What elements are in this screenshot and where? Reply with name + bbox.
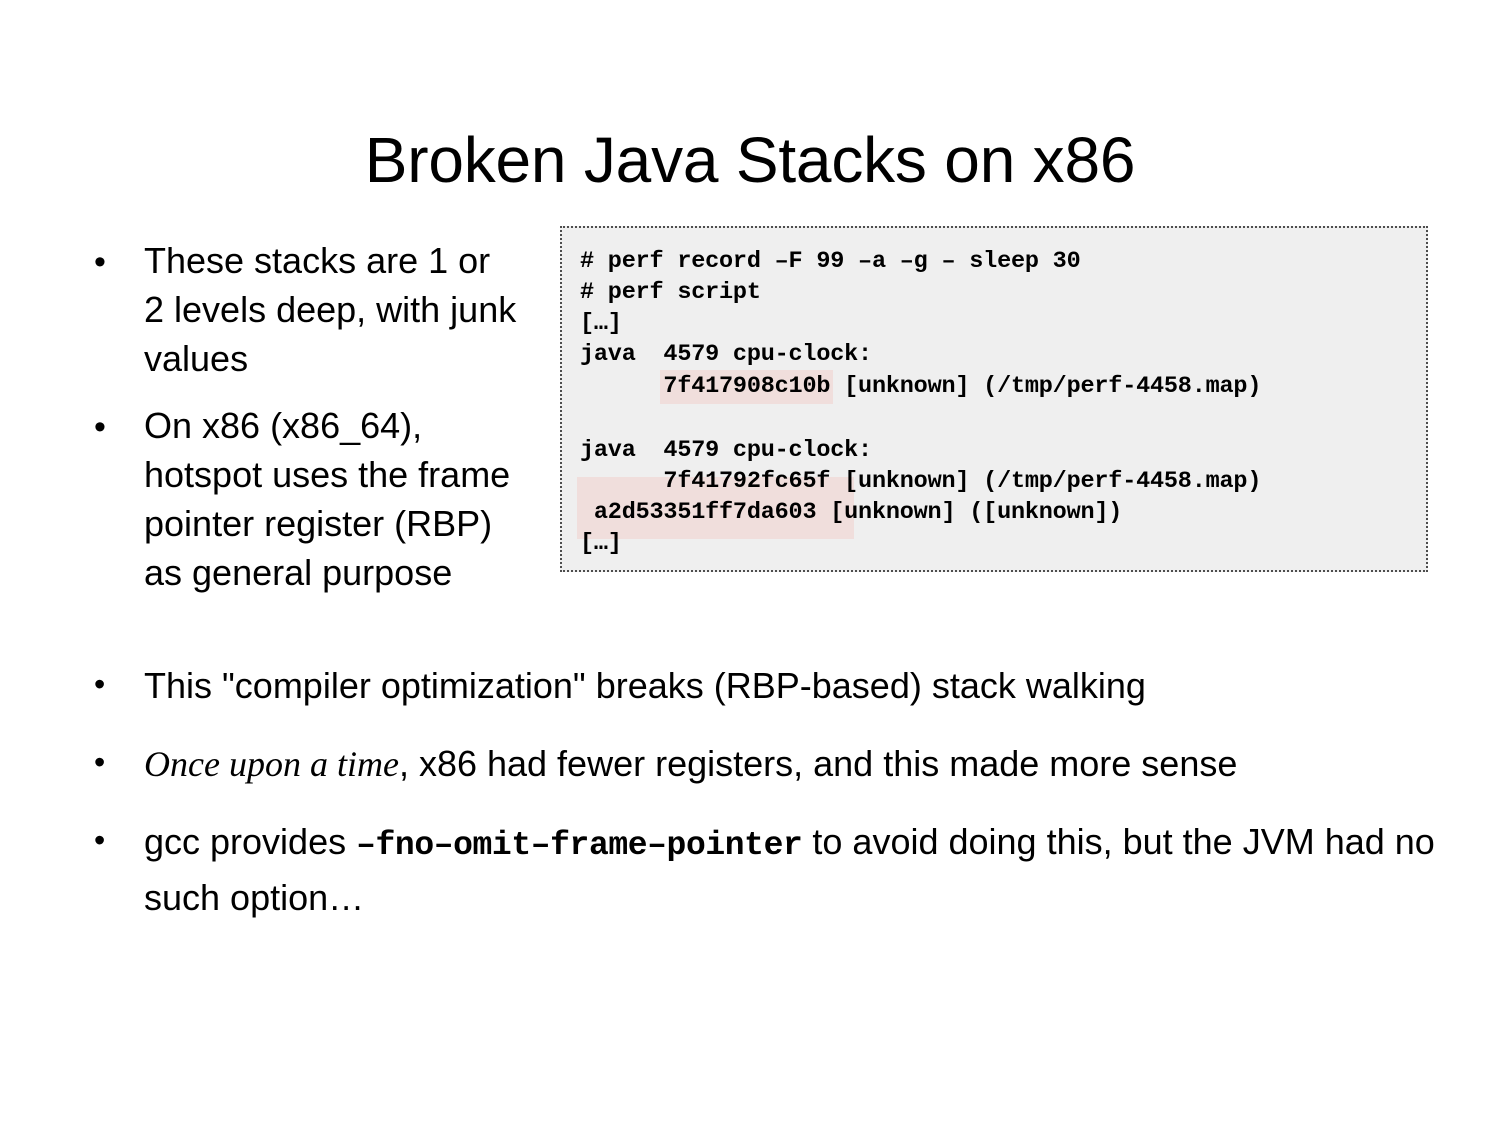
- page-title: Broken Java Stacks on x86: [0, 127, 1500, 194]
- list-item: • On x86 (x86_64), hotspot uses the fram…: [88, 401, 518, 597]
- bullet-dot-icon: •: [94, 401, 106, 453]
- code-line: java 4579 cpu-clock:: [580, 435, 1426, 466]
- text-run: gcc provides: [144, 821, 356, 862]
- left-bullet-list: • These stacks are 1 or 2 levels deep, w…: [88, 236, 518, 615]
- code-line-blank: [580, 404, 1426, 435]
- code-line-stack-frame: 7f41792fc65f [unknown] (/tmp/perf-4458.m…: [580, 466, 1426, 497]
- code-lines: # perf record –F 99 –a –g – sleep 30 # p…: [580, 246, 1426, 559]
- code-line: java 4579 cpu-clock:: [580, 339, 1426, 370]
- text-run-code: –fno–omit–frame–pointer: [356, 827, 802, 864]
- address-highlight: a2d53351ff7da603: [594, 499, 816, 526]
- code-line: # perf record –F 99 –a –g – sleep 30: [580, 246, 1426, 277]
- code-frame-detail: [unknown] (/tmp/perf-4458.map): [830, 373, 1261, 400]
- code-line-stack-frame: 7f417908c10b [unknown] (/tmp/perf-4458.m…: [580, 370, 1426, 404]
- code-indent: [580, 373, 663, 400]
- bullet-dot-icon: •: [94, 236, 106, 288]
- code-line-stack-frame: a2d53351ff7da603 [unknown] ([unknown]): [580, 497, 1426, 528]
- list-item-label: These stacks are 1 or 2 levels deep, wit…: [144, 236, 518, 383]
- address-highlight: 7f41792fc65f: [663, 468, 830, 495]
- bullet-dot-icon: •: [94, 738, 105, 786]
- list-item-label: On x86 (x86_64), hotspot uses the frame …: [144, 401, 518, 597]
- list-item-label: This "compiler optimization" breaks (RBP…: [144, 660, 1448, 712]
- code-line: […]: [580, 308, 1426, 339]
- code-frame-detail: [unknown] ([unknown]): [816, 499, 1122, 526]
- code-line: […]: [580, 528, 1426, 559]
- code-indent: [580, 499, 594, 526]
- terminal-code-block: # perf record –F 99 –a –g – sleep 30 # p…: [560, 226, 1428, 572]
- list-item-label: gcc provides –fno–omit–frame–pointer to …: [144, 816, 1448, 924]
- list-item: • gcc provides –fno–omit–frame–pointer t…: [88, 816, 1448, 924]
- bullet-dot-icon: •: [94, 816, 105, 864]
- code-frame-detail: [unknown] (/tmp/perf-4458.map): [830, 468, 1261, 495]
- code-line: # perf script: [580, 277, 1426, 308]
- list-item: • Once upon a time, x86 had fewer regist…: [88, 738, 1448, 790]
- text-run: , x86 had fewer registers, and this made…: [399, 743, 1237, 784]
- address-highlight: 7f417908c10b: [660, 370, 833, 404]
- list-item: • These stacks are 1 or 2 levels deep, w…: [88, 236, 518, 383]
- text-run: This "compiler optimization" breaks (RBP…: [144, 665, 1146, 706]
- text-run-script: Once upon a time: [144, 744, 399, 784]
- bullet-dot-icon: •: [94, 660, 105, 708]
- list-item-label: Once upon a time, x86 had fewer register…: [144, 738, 1448, 790]
- slide-root: { "slide": { "title": "Broken Java Stack…: [0, 0, 1500, 1125]
- list-item: • This "compiler optimization" breaks (R…: [88, 660, 1448, 712]
- lower-bullet-list: • This "compiler optimization" breaks (R…: [88, 660, 1448, 950]
- code-indent: [580, 468, 663, 495]
